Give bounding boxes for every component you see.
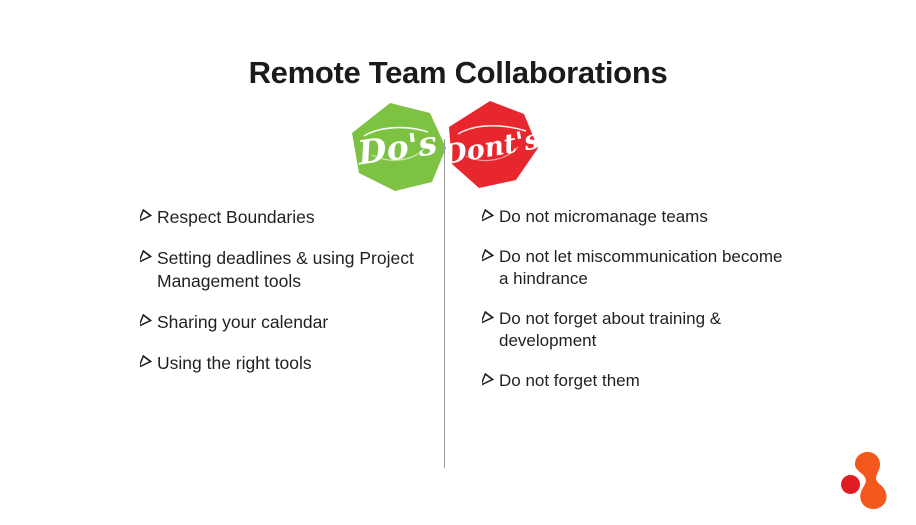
- logo-small-circle: [841, 475, 860, 494]
- list-item-text: Respect Boundaries: [157, 206, 430, 229]
- triangle-right-italic-icon: [140, 314, 157, 327]
- list-item: Do not forget them: [482, 370, 792, 393]
- list-item-text: Do not micromanage teams: [499, 206, 792, 229]
- molecule-logo: [836, 449, 900, 511]
- triangle-right-italic-icon: [140, 250, 157, 263]
- dos-badge: Do's: [350, 101, 448, 193]
- list-item: Do not forget about training & developme…: [482, 308, 792, 353]
- donts-badge: Dont's: [446, 100, 540, 190]
- triangle-right-italic-icon: [140, 209, 157, 222]
- donts-list: Do not micromanage teams Do not let misc…: [482, 206, 792, 409]
- list-item: Respect Boundaries: [140, 206, 430, 229]
- list-item-text: Using the right tools: [157, 352, 430, 375]
- triangle-right-italic-icon: [482, 373, 499, 386]
- list-item-text: Sharing your calendar: [157, 311, 430, 334]
- triangle-right-italic-icon: [482, 311, 499, 324]
- list-item: Do not micromanage teams: [482, 206, 792, 229]
- triangle-right-italic-icon: [482, 249, 499, 262]
- dos-list: Respect Boundaries Setting deadlines & u…: [140, 206, 430, 393]
- list-item-text: Do not forget them: [499, 370, 792, 393]
- list-item-text: Do not let miscommunication become a hin…: [499, 246, 792, 291]
- list-item-text: Setting deadlines & using Project Manage…: [157, 247, 430, 293]
- triangle-right-italic-icon: [482, 209, 499, 222]
- logo-dumbbell-shape: [855, 452, 887, 509]
- list-item: Sharing your calendar: [140, 311, 430, 334]
- list-item: Do not let miscommunication become a hin…: [482, 246, 792, 291]
- column-divider: [444, 139, 445, 468]
- page-title: Remote Team Collaborations: [0, 54, 916, 92]
- triangle-right-italic-icon: [140, 355, 157, 368]
- list-item: Using the right tools: [140, 352, 430, 375]
- list-item-text: Do not forget about training & developme…: [499, 308, 792, 353]
- slide-canvas: Remote Team Collaborations Do's Dont's: [0, 0, 916, 525]
- list-item: Setting deadlines & using Project Manage…: [140, 247, 430, 293]
